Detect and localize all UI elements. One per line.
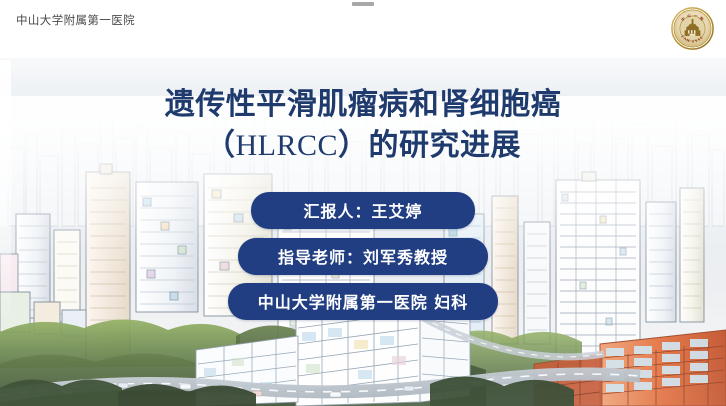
advisor-pill: 指导老师：刘军秀教授 <box>238 238 488 275</box>
presenter-row: 汇报人：王艾婷 <box>0 192 726 229</box>
slide-title-block: 遗传性平滑肌瘤病和肾细胞癌 （HLRCC）的研究进展 <box>0 84 726 166</box>
presenter-pill: 汇报人：王艾婷 <box>251 192 474 229</box>
presentation-slide: 中山大学附属第一医院 <box>0 0 726 406</box>
affiliation-pill: 中山大学附属第一医院 妇科 <box>228 283 499 320</box>
advisor-row: 指导老师：刘军秀教授 <box>0 238 726 275</box>
title-paren-close: ） <box>338 128 369 163</box>
title-abbreviation: HLRCC <box>235 129 338 162</box>
affiliation-row: 中山大学附属第一医院 妇科 <box>0 283 726 320</box>
slide-title-line-1: 遗传性平滑肌瘤病和肾细胞癌 <box>0 84 726 125</box>
slide-title-line-2: （HLRCC）的研究进展 <box>0 125 726 166</box>
fah-sysu-seal-icon: 中 山 一 院 FAH-SYSU <box>670 6 715 51</box>
window-handle-icon <box>352 2 374 6</box>
title-line-2-tail: 的研究进展 <box>369 128 522 163</box>
slide-header-band <box>0 0 726 58</box>
title-paren-open: （ <box>205 128 236 163</box>
header-institution-name: 中山大学附属第一医院 <box>16 12 135 28</box>
